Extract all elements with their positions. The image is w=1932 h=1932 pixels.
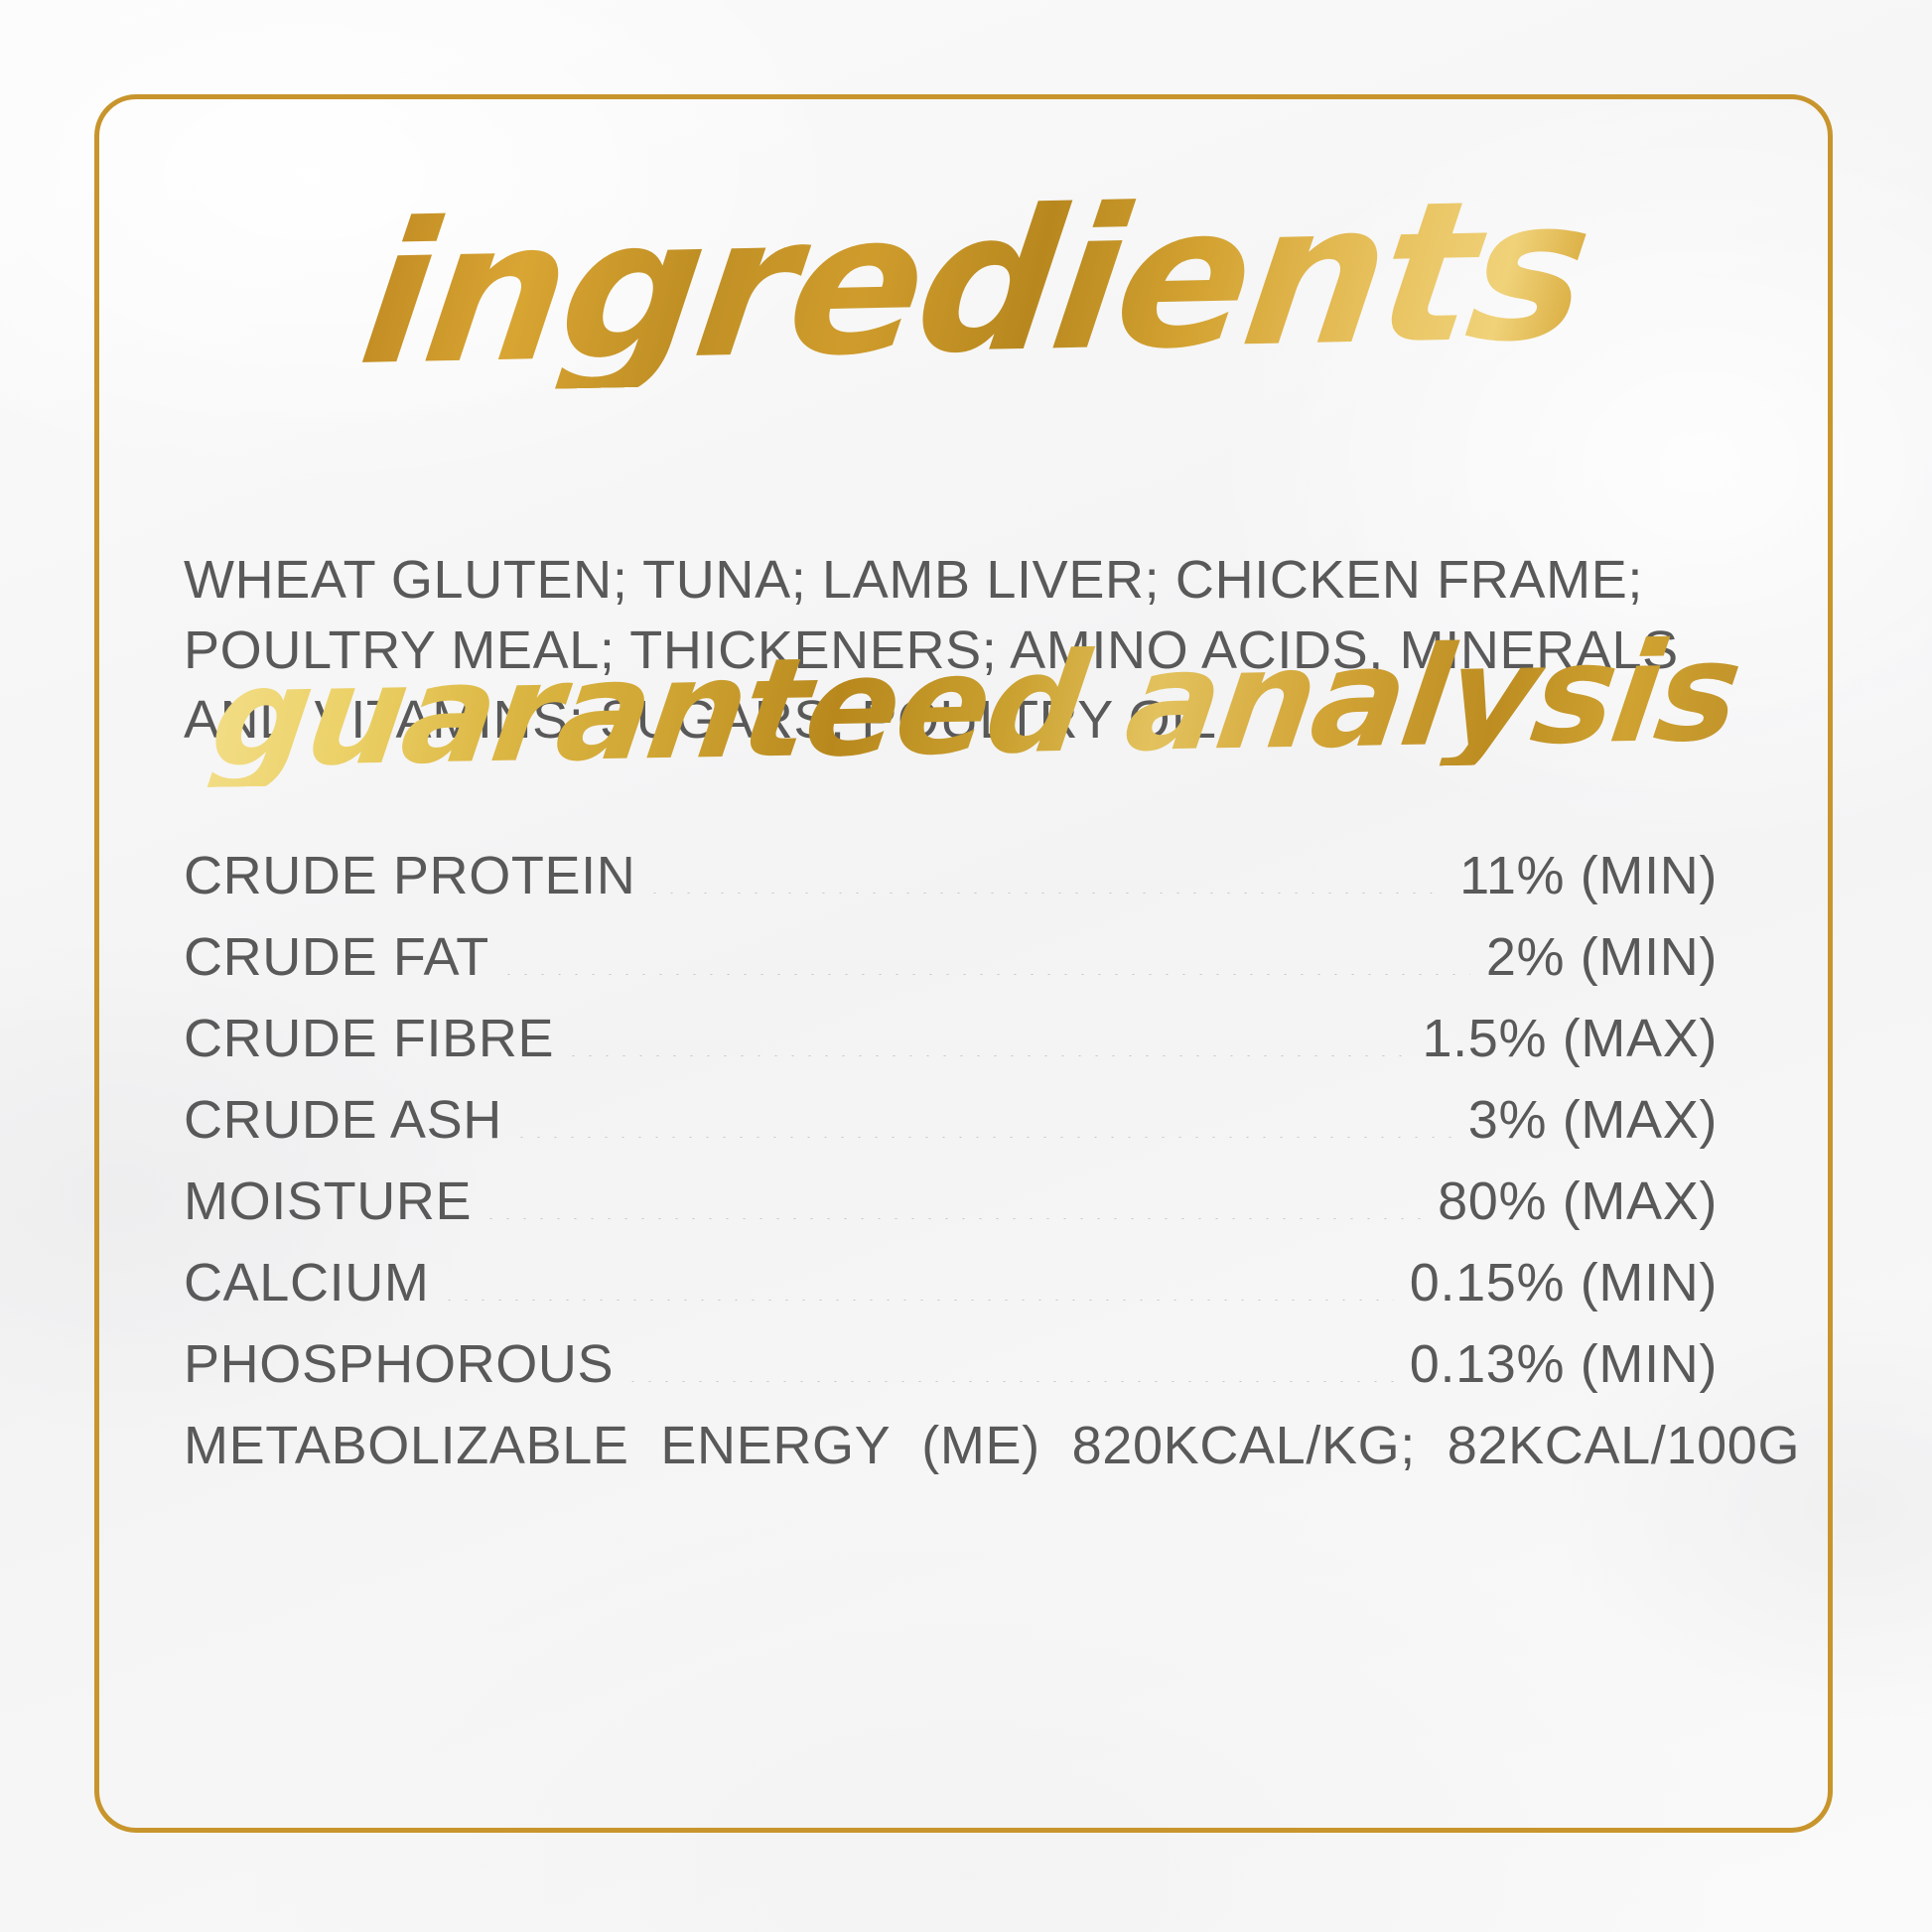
analysis-row-value: 0.15% (MIN) [1410,1256,1718,1310]
leader-dots [629,1381,1394,1382]
analysis-row-value: 0.13% (MIN) [1410,1337,1718,1391]
ingredients-heading-container: ingredients [184,199,1762,393]
leader-dots [518,1137,1452,1138]
guaranteed-analysis-table: CRUDE PROTEIN 11% (MIN) CRUDE FAT 2% (MI… [184,849,1718,1472]
analysis-row-value: 1.5% (MAX) [1422,1012,1718,1065]
analysis-row-value: 2% (MIN) [1486,930,1718,984]
analysis-row-label: MOISTURE [184,1174,472,1228]
label-page: ingredients WHEAT GLUTEN; TUNA; LAMB LIV… [0,0,1932,1932]
leader-dots [487,1218,1422,1219]
leader-dots [505,974,1470,975]
guaranteed-analysis-heading: guaranteed analysis [204,623,1746,787]
guaranteed-analysis-heading-container: guaranteed analysis [184,650,1762,787]
analysis-row-label: CRUDE ASH [184,1093,502,1147]
analysis-row-value: 80% (MAX) [1438,1174,1718,1228]
analysis-row-label: CRUDE PROTEIN [184,849,635,902]
ingredients-heading: ingredients [352,173,1598,393]
leader-dots [651,893,1444,894]
leader-dots [446,1300,1394,1301]
analysis-row: CALCIUM 0.15% (MIN) [184,1256,1718,1337]
analysis-row: CRUDE ASH 3% (MAX) [184,1093,1718,1174]
analysis-row: PHOSPHOROUS 0.13% (MIN) [184,1337,1718,1419]
analysis-row-label: PHOSPHOROUS [184,1337,614,1391]
analysis-row: CRUDE PROTEIN 11% (MIN) [184,849,1718,930]
metabolizable-energy-line: METABOLIZABLE ENERGY (ME) 820KCAL/KG; 82… [184,1419,1718,1472]
analysis-row-label: CALCIUM [184,1256,430,1310]
analysis-row-value: 3% (MAX) [1468,1093,1718,1147]
analysis-row-value: 11% (MIN) [1459,849,1718,902]
analysis-row: CRUDE FIBRE 1.5% (MAX) [184,1012,1718,1093]
analysis-row: CRUDE FAT 2% (MIN) [184,930,1718,1012]
analysis-row-label: CRUDE FIBRE [184,1012,554,1065]
analysis-row-label: CRUDE FAT [184,930,489,984]
label-content: ingredients WHEAT GLUTEN; TUNA; LAMB LIV… [184,94,1762,1833]
leader-dots [570,1055,1406,1056]
analysis-row: MOISTURE 80% (MAX) [184,1174,1718,1256]
